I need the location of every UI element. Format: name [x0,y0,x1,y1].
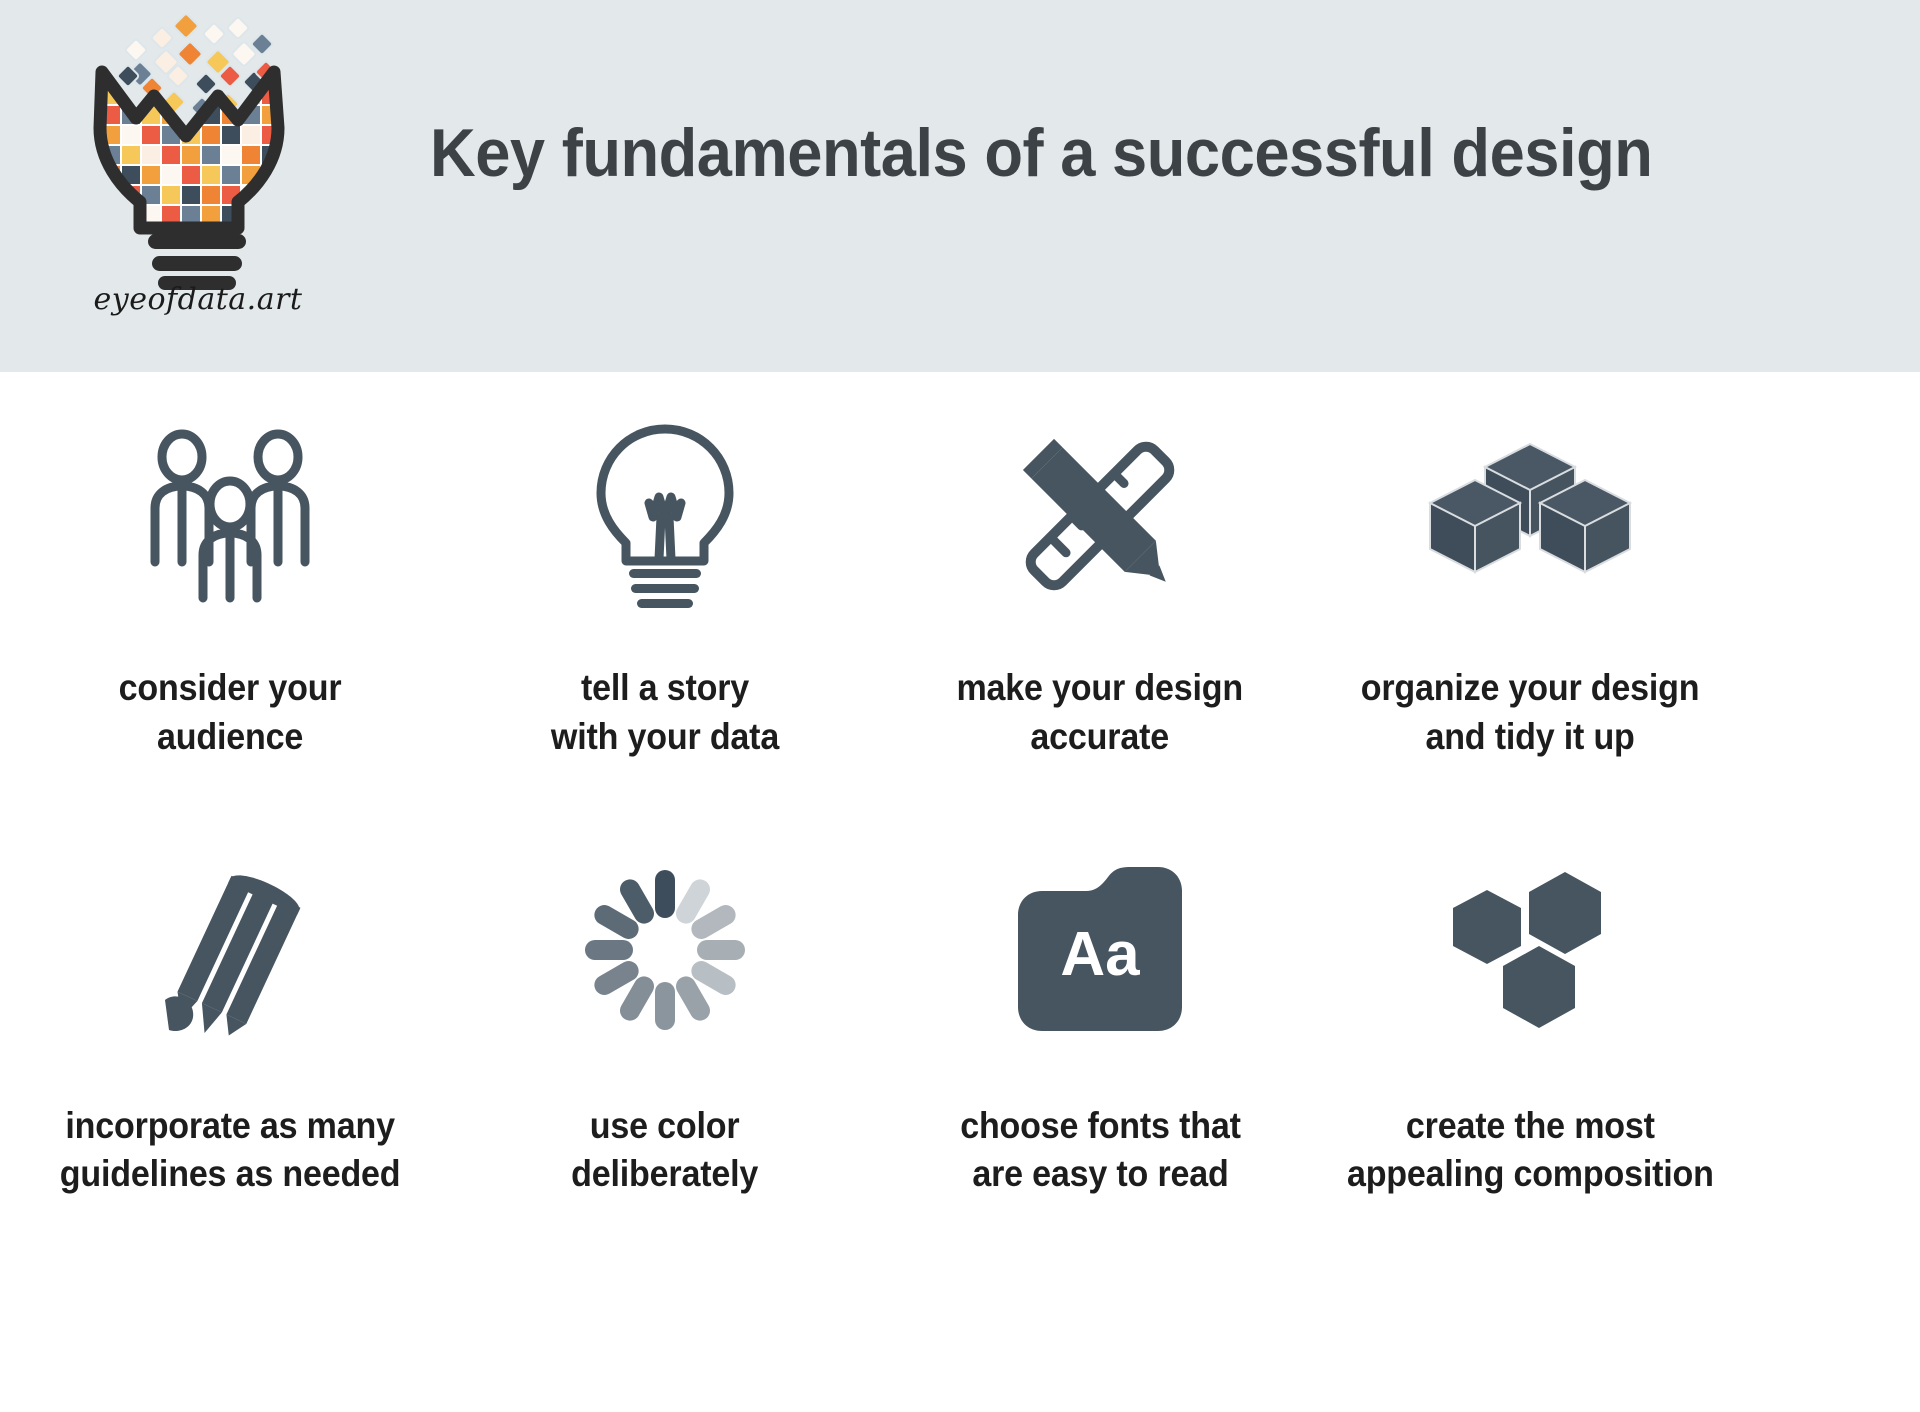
three-cubes-icon [1425,436,1635,596]
icon-container [1400,416,1660,616]
fundamentals-grid: consider your audience [0,372,1920,1199]
grid-cell-consider-your-audience: consider your audience [30,416,430,762]
cell-label: create the most appealing composition [1347,1102,1714,1200]
label-line-1: organize your design [1361,667,1700,708]
label-line-2: guidelines as needed [60,1153,401,1194]
pencil-icon [145,860,315,1040]
broken-lightbulb-mosaic-logo [78,10,318,280]
label-line-1: consider your [119,667,342,708]
grid-cell-incorporate-guidelines: incorporate as many guidelines as needed [30,850,430,1200]
cell-label: tell a story with your data [551,664,779,762]
icon-container [535,416,795,616]
font-folder-aa-icon: Aa [1010,865,1190,1035]
grid-cell-choose-fonts: Aa choose fonts that are easy to read [900,850,1300,1200]
grid-row-2: incorporate as many guidelines as needed [0,850,1920,1200]
icon-container [535,850,795,1050]
infographic-poster: eyeofdata.art Key fundamentals of a succ… [0,0,1920,1412]
three-hexagons-icon [1435,862,1625,1037]
icon-container: Aa [970,850,1230,1050]
label-line-1: create the most [1406,1105,1655,1146]
ruler-pencil-cross-icon [1005,426,1195,606]
label-line-2: accurate [1031,716,1170,757]
lightbulb-outline-icon [585,421,745,611]
cell-label: choose fonts that are easy to read [960,1102,1241,1200]
cell-label: organize your design and tidy it up [1361,664,1700,762]
brand-block: eyeofdata.art [58,10,338,317]
grid-cell-tell-a-story: tell a story with your data [465,416,865,762]
label-line-2: and tidy it up [1425,716,1634,757]
cell-label: make your design accurate [957,664,1244,762]
icon-container [100,850,360,1050]
icon-container [970,416,1230,616]
cell-label: incorporate as many guidelines as needed [60,1102,401,1200]
page-title: Key fundamentals of a successful design [430,118,1652,189]
cell-label: use color deliberately [572,1102,759,1200]
label-line-1: make your design [957,667,1244,708]
bulb-thread-1 [629,569,701,578]
grid-cell-make-your-design-accurate: make your design accurate [900,416,1300,762]
spinner-segments [585,870,745,1030]
grid-cell-organize-your-design: organize your design and tidy it up [1330,416,1730,762]
header-banner: eyeofdata.art Key fundamentals of a succ… [0,0,1920,372]
audience-people-icon [135,426,325,606]
folder-glyph-label: Aa [1060,920,1140,989]
label-line-1: choose fonts that [960,1105,1241,1146]
label-line-1: tell a story [581,667,749,708]
cell-label: consider your audience [119,664,342,762]
color-spinner-icon [575,860,755,1040]
hexagon-upper-left [1453,890,1521,964]
bulb-base-bar-2 [152,256,242,271]
label-line-2: appealing composition [1347,1153,1714,1194]
grid-row-1: consider your audience [0,416,1920,762]
label-line-1: use color [590,1105,740,1146]
bulb-base-bar-1 [148,234,246,249]
label-line-2: deliberately [572,1153,759,1194]
label-line-2: with your data [551,716,779,757]
brand-wordmark: eyeofdata.art [94,282,303,317]
grid-cell-use-color-deliberately: use color deliberately [465,850,865,1200]
hexagon-lower-centre [1503,946,1575,1028]
hexagon-upper-right [1529,872,1601,954]
label-line-2: are easy to read [972,1153,1228,1194]
icon-container [100,416,360,616]
label-line-2: audience [157,716,303,757]
icon-container [1400,850,1660,1050]
bulb-thread-3 [637,599,693,608]
label-line-1: incorporate as many [65,1105,394,1146]
grid-cell-create-appealing-composition: create the most appealing composition [1330,850,1730,1200]
bulb-thread-2 [631,584,699,593]
